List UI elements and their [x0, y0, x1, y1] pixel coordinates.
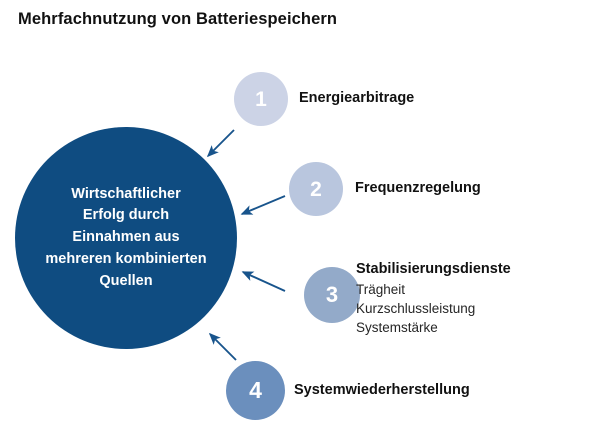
arrow-step-4 — [210, 334, 236, 360]
page-title: Mehrfachnutzung von Batteriespeichern — [18, 10, 337, 29]
arrow-step-3 — [243, 272, 285, 291]
step-label-3: Stabilisierungsdienste — [356, 260, 511, 280]
step-number-2: 2 — [310, 179, 322, 200]
step-circle-3[interactable]: 3 — [304, 267, 360, 323]
step-number-1: 1 — [255, 89, 267, 110]
hub-circle: Wirtschaftlicher Erfolg durch Einnahmen … — [15, 127, 237, 349]
arrow-step-2 — [242, 196, 285, 214]
step-3-subline-1: Trägheit — [356, 280, 511, 299]
step-label-2: Frequenzregelung — [355, 180, 481, 196]
step-circle-4[interactable]: 4 — [226, 361, 285, 420]
step-number-4: 4 — [249, 379, 262, 402]
step-circle-2[interactable]: 2 — [289, 162, 343, 216]
step-circle-1[interactable]: 1 — [234, 72, 288, 126]
step-label-3-block: Stabilisierungsdienste Trägheit Kurzschl… — [356, 260, 511, 337]
step-number-3: 3 — [326, 284, 338, 306]
step-label-4: Systemwiederherstellung — [294, 382, 470, 398]
step-label-1: Energiearbitrage — [299, 90, 414, 106]
step-3-subline-2: Kurzschlussleistung — [356, 299, 511, 318]
diagram-canvas: Mehrfachnutzung von Batteriespeichern Wi… — [0, 0, 611, 432]
hub-label: Wirtschaftlicher Erfolg durch Einnahmen … — [19, 184, 234, 293]
step-3-subline-3: Systemstärke — [356, 318, 511, 337]
arrow-step-1 — [208, 130, 234, 156]
